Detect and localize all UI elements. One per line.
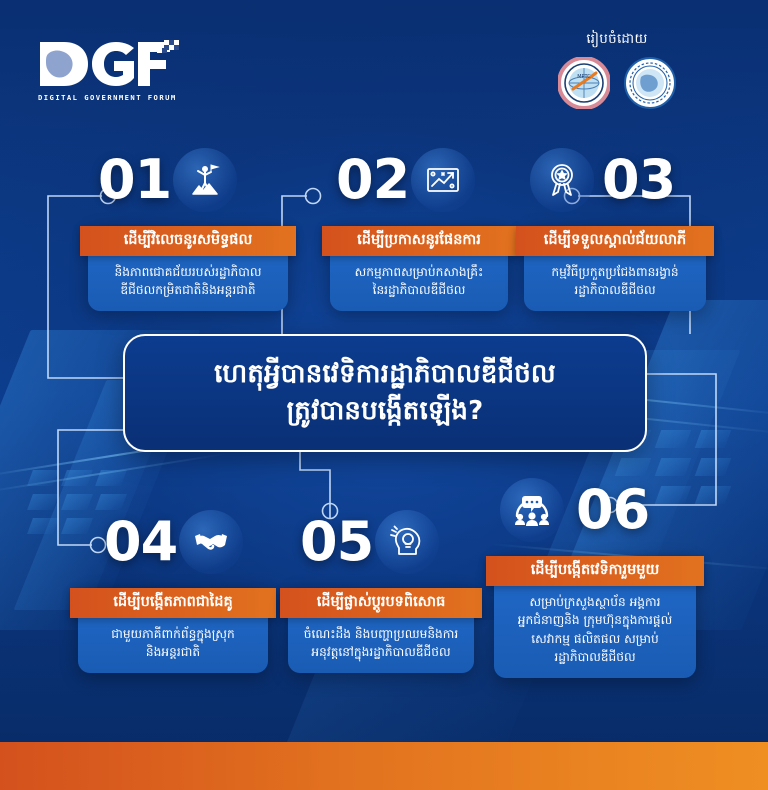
card-banner-02: ដើម្បីប្រកាសនូរផែនការ: [322, 226, 516, 256]
card-sub-02: សកម្មភាពសម្រាប់កសាងគ្រឹះ នៃរដ្ឋាភិបាលឌីជ…: [330, 263, 508, 300]
card-sub-05: ចំណេះដឹង និងបញ្ហាប្រឈមនិងការ អនុវត្តនៅក្…: [288, 625, 474, 662]
card-number-03: 03: [602, 153, 675, 207]
reason-card-03[interactable]: 03 ដើម្បីទទួលស្គាល់ជ័យលាភី កម្មវិធីប្រកួ…: [524, 146, 706, 311]
card-number-05: 05: [300, 515, 373, 569]
dgf-logo-tagline: DIGITAL GOVERNMENT FORUM: [38, 93, 208, 102]
card-body-04: ដើម្បីបង្កើតភាពជាដៃគូ ជាមួយភាគីពាក់ព័ន្ធ…: [78, 588, 268, 673]
mptc-seal-logo-icon: MPTC: [558, 57, 610, 109]
prepared-by-label: រៀបចំដោយ: [522, 30, 712, 50]
card-body-02: ដើម្បីប្រកាសនូរផែនការ សកម្មភាពសម្រាប់កសា…: [330, 226, 508, 311]
center-question-box: ហេតុអ្វីបានវេទិការដ្ឋាភិបាលឌីជីថល ត្រូវប…: [123, 334, 647, 452]
question-line-1: ហេតុអ្វីបានវេទិការដ្ឋាភិបាលឌីជីថល: [214, 356, 556, 393]
bottom-accent-bar: [0, 742, 768, 790]
card-body-01: ដើម្បីវិលេចនូរសមិទ្ធផល និងភាពជោគជ័យរបស់រ…: [88, 226, 288, 311]
reason-card-04[interactable]: 04 ដើម្បីបង្កើតភាពជាដៃគូ ជាមួយភាគីពាក់ព័…: [78, 508, 268, 673]
achievement-flag-icon: [173, 148, 237, 212]
dgf-wordmark-icon: [38, 38, 186, 90]
card-body-03: ដើម្បីទទួលស្គាល់ជ័យលាភី កម្មវិធីប្រកួតប្…: [524, 226, 706, 311]
card-sub-06: សម្រាប់ក្រសួងស្ថាប័ន អង្គការ អ្នកជំនាញនិ…: [494, 593, 696, 667]
card-number-06: 06: [576, 483, 649, 537]
reason-card-05[interactable]: 05 ដើម្បីផ្លាស់ប្ដូរបទពិសោធ ចំណេះដឹង និង…: [288, 508, 474, 673]
head-lightbulb-idea-icon: [375, 510, 439, 574]
dgf-logo: DIGITAL GOVERNMENT FORUM: [38, 38, 208, 110]
reason-card-06[interactable]: 06 ដើម្បីបង្កើតវេទិការួមមួយ សម្រាប់ក្រសួ…: [494, 476, 696, 678]
card-sub-01: និងភាពជោគជ័យរបស់រដ្ឋាភិបាល ឌីជីថលកម្រិតជ…: [88, 263, 288, 300]
group-discussion-icon: [500, 478, 564, 542]
card-sub-03: កម្មវិធីប្រកួតប្រជែងពានរង្វាន់ រដ្ឋាភិបា…: [524, 263, 706, 300]
svg-text:MPTC: MPTC: [577, 74, 591, 80]
card-number-01: 01: [98, 153, 171, 207]
card-banner-04: ដើម្បីបង្កើតភាពជាដៃគូ: [70, 588, 276, 618]
card-banner-03: ដើម្បីទទួលស្គាល់ជ័យលាភី: [516, 226, 714, 256]
infographic-poster: DIGITAL GOVERNMENT FORUM រៀបចំដោយ MPTC: [0, 0, 768, 790]
card-banner-06: ដើម្បីបង្កើតវេទិការួមមួយ: [486, 556, 704, 586]
card-body-06: ដើម្បីបង្កើតវេទិការួមមួយ សម្រាប់ក្រសួងស្…: [494, 556, 696, 678]
award-medal-icon: [530, 148, 594, 212]
card-number-02: 02: [336, 153, 409, 207]
prepared-by-block: រៀបចំដោយ MPTC: [522, 30, 712, 109]
card-number-04: 04: [104, 515, 177, 569]
reason-card-02[interactable]: 02 ដើម្បីប្រកាសនូរផែនការ សកម្មភាពសម្រាប់…: [330, 146, 508, 311]
handshake-icon: [179, 510, 243, 574]
question-line-2: ត្រូវបានបង្កើតឡើង?: [287, 393, 484, 430]
card-sub-04: ជាមួយភាគីពាក់ព័ន្ធក្នុងស្រុក និងអន្តរជាត…: [78, 625, 268, 662]
card-banner-01: ដើម្បីវិលេចនូរសមិទ្ធផល: [80, 226, 296, 256]
card-banner-05: ដើម្បីផ្លាស់ប្ដូរបទពិសោធ: [280, 588, 482, 618]
reason-card-01[interactable]: 01 ដើម្បីវិលេចនូរសមិទ្ធផល និងភាពជោគជ័យរប…: [88, 146, 288, 311]
dgf-logo-mark: [38, 38, 186, 90]
government-seal-logo-icon: [624, 57, 676, 109]
card-body-05: ដើម្បីផ្លាស់ប្ដូរបទពិសោធ ចំណេះដឹង និងបញ្…: [288, 588, 474, 673]
growth-chart-icon: [411, 148, 475, 212]
